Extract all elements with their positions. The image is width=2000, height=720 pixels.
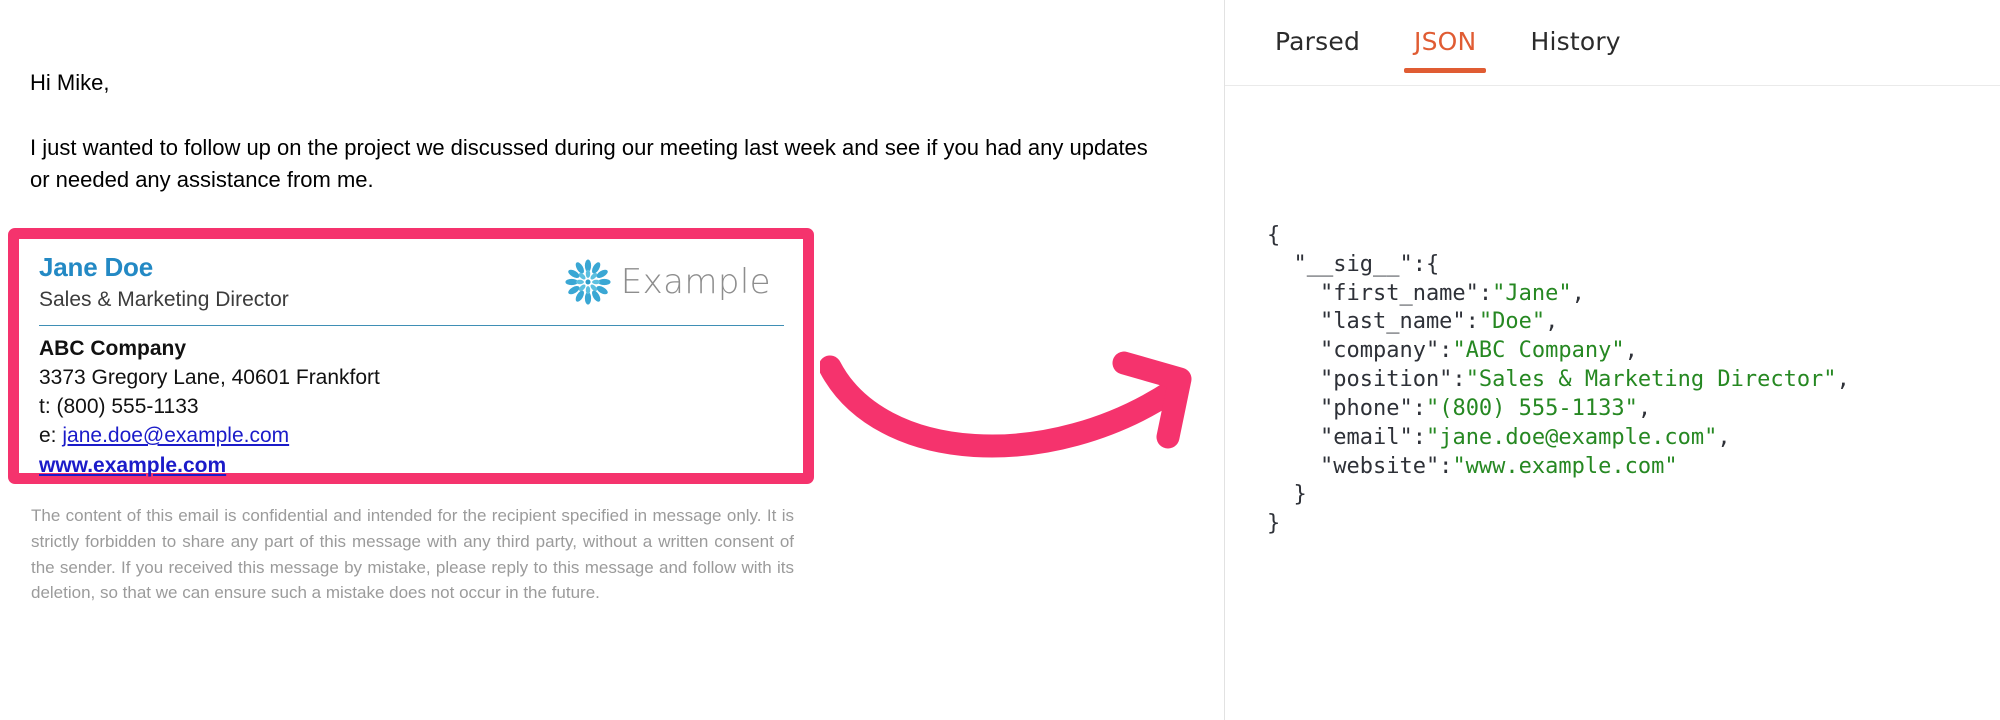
burst-flower-icon — [564, 258, 612, 306]
json-token-punc: , — [1638, 396, 1651, 421]
json-token-str: "Doe" — [1479, 309, 1545, 334]
json-token-key: "website": — [1267, 454, 1452, 479]
json-token-str: "Sales & Marketing Director" — [1466, 367, 1837, 392]
inspector-tabs: Parsed JSON History — [1225, 0, 2000, 72]
json-line: "last_name":"Doe", — [1267, 308, 2000, 337]
json-line: "__sig__":{ — [1267, 251, 2000, 280]
json-token-punc: } — [1267, 482, 1307, 507]
email-body-text: I just wanted to follow up on the projec… — [30, 132, 1170, 196]
signature-company: ABC Company — [39, 335, 785, 364]
company-logo: Example — [564, 258, 771, 306]
json-token-key: "last_name": — [1267, 309, 1479, 334]
company-logo-text: Example — [621, 262, 771, 302]
json-token-str: "jane.doe@example.com" — [1426, 425, 1717, 450]
signature-divider — [39, 325, 784, 326]
json-token-key: "company": — [1267, 338, 1452, 363]
email-signature-card: Jane Doe Sales & Marketing Director — [19, 239, 803, 473]
json-token-punc: , — [1572, 281, 1585, 306]
json-token-punc: } — [1267, 511, 1280, 536]
json-token-str: "www.example.com" — [1452, 454, 1677, 479]
json-line: "email":"jane.doe@example.com", — [1267, 424, 2000, 453]
json-line: "first_name":"Jane", — [1267, 280, 2000, 309]
json-token-str: "Jane" — [1492, 281, 1571, 306]
signature-header-row: Jane Doe Sales & Marketing Director — [39, 253, 785, 314]
json-token-key: "first_name": — [1267, 281, 1492, 306]
json-inspector-pane: Parsed JSON History { "__sig__":{ "first… — [1225, 0, 2000, 720]
json-code-view[interactable]: { "__sig__":{ "first_name":"Jane", "last… — [1267, 222, 2000, 539]
signature-position: Sales & Marketing Director — [39, 286, 289, 314]
tab-parsed[interactable]: Parsed — [1265, 27, 1370, 72]
signature-identity: Jane Doe Sales & Marketing Director — [39, 253, 289, 314]
signature-email-prefix: e: — [39, 424, 62, 447]
tab-json[interactable]: JSON — [1404, 27, 1486, 72]
json-token-punc: , — [1625, 338, 1638, 363]
json-line: } — [1267, 510, 2000, 539]
json-token-str: "ABC Company" — [1452, 338, 1624, 363]
inspector-tabbar: Parsed JSON History — [1225, 0, 2000, 86]
json-token-punc: , — [1717, 425, 1730, 450]
signature-email-row: e: jane.doe@example.com — [39, 422, 785, 451]
tab-history[interactable]: History — [1520, 27, 1630, 72]
email-preview-pane: Hi Mike, I just wanted to follow up on t… — [0, 0, 1224, 720]
json-token-key: "position": — [1267, 367, 1466, 392]
signature-address: 3373 Gregory Lane, 40601 Frankfort — [39, 364, 785, 393]
json-line: "website":"www.example.com" — [1267, 453, 2000, 482]
json-token-punc: { — [1267, 223, 1280, 248]
json-line: "phone":"(800) 555-1133", — [1267, 395, 2000, 424]
json-token-key: "__sig__":{ — [1267, 252, 1439, 277]
email-disclaimer: The content of this email is confidentia… — [31, 503, 794, 606]
json-token-punc: , — [1545, 309, 1558, 334]
json-token-str: "(800) 555-1133" — [1426, 396, 1638, 421]
json-token-key: "phone": — [1267, 396, 1426, 421]
signature-website-link[interactable]: www.example.com — [39, 451, 226, 480]
json-line: { — [1267, 222, 2000, 251]
signature-name: Jane Doe — [39, 253, 289, 283]
json-line: "company":"ABC Company", — [1267, 337, 2000, 366]
json-token-punc: , — [1837, 367, 1850, 392]
tabbar-bottom-rule — [1225, 85, 2000, 86]
json-line: } — [1267, 481, 2000, 510]
email-greeting: Hi Mike, — [30, 68, 109, 98]
screen-root: Hi Mike, I just wanted to follow up on t… — [0, 0, 2000, 720]
curved-arrow-right-icon — [820, 345, 1240, 475]
signature-phone: t: (800) 555-1133 — [39, 393, 785, 422]
json-line: "position":"Sales & Marketing Director", — [1267, 366, 2000, 395]
signature-highlight-frame: Jane Doe Sales & Marketing Director — [8, 228, 814, 484]
signature-email-link[interactable]: jane.doe@example.com — [62, 424, 289, 447]
json-token-key: "email": — [1267, 425, 1426, 450]
